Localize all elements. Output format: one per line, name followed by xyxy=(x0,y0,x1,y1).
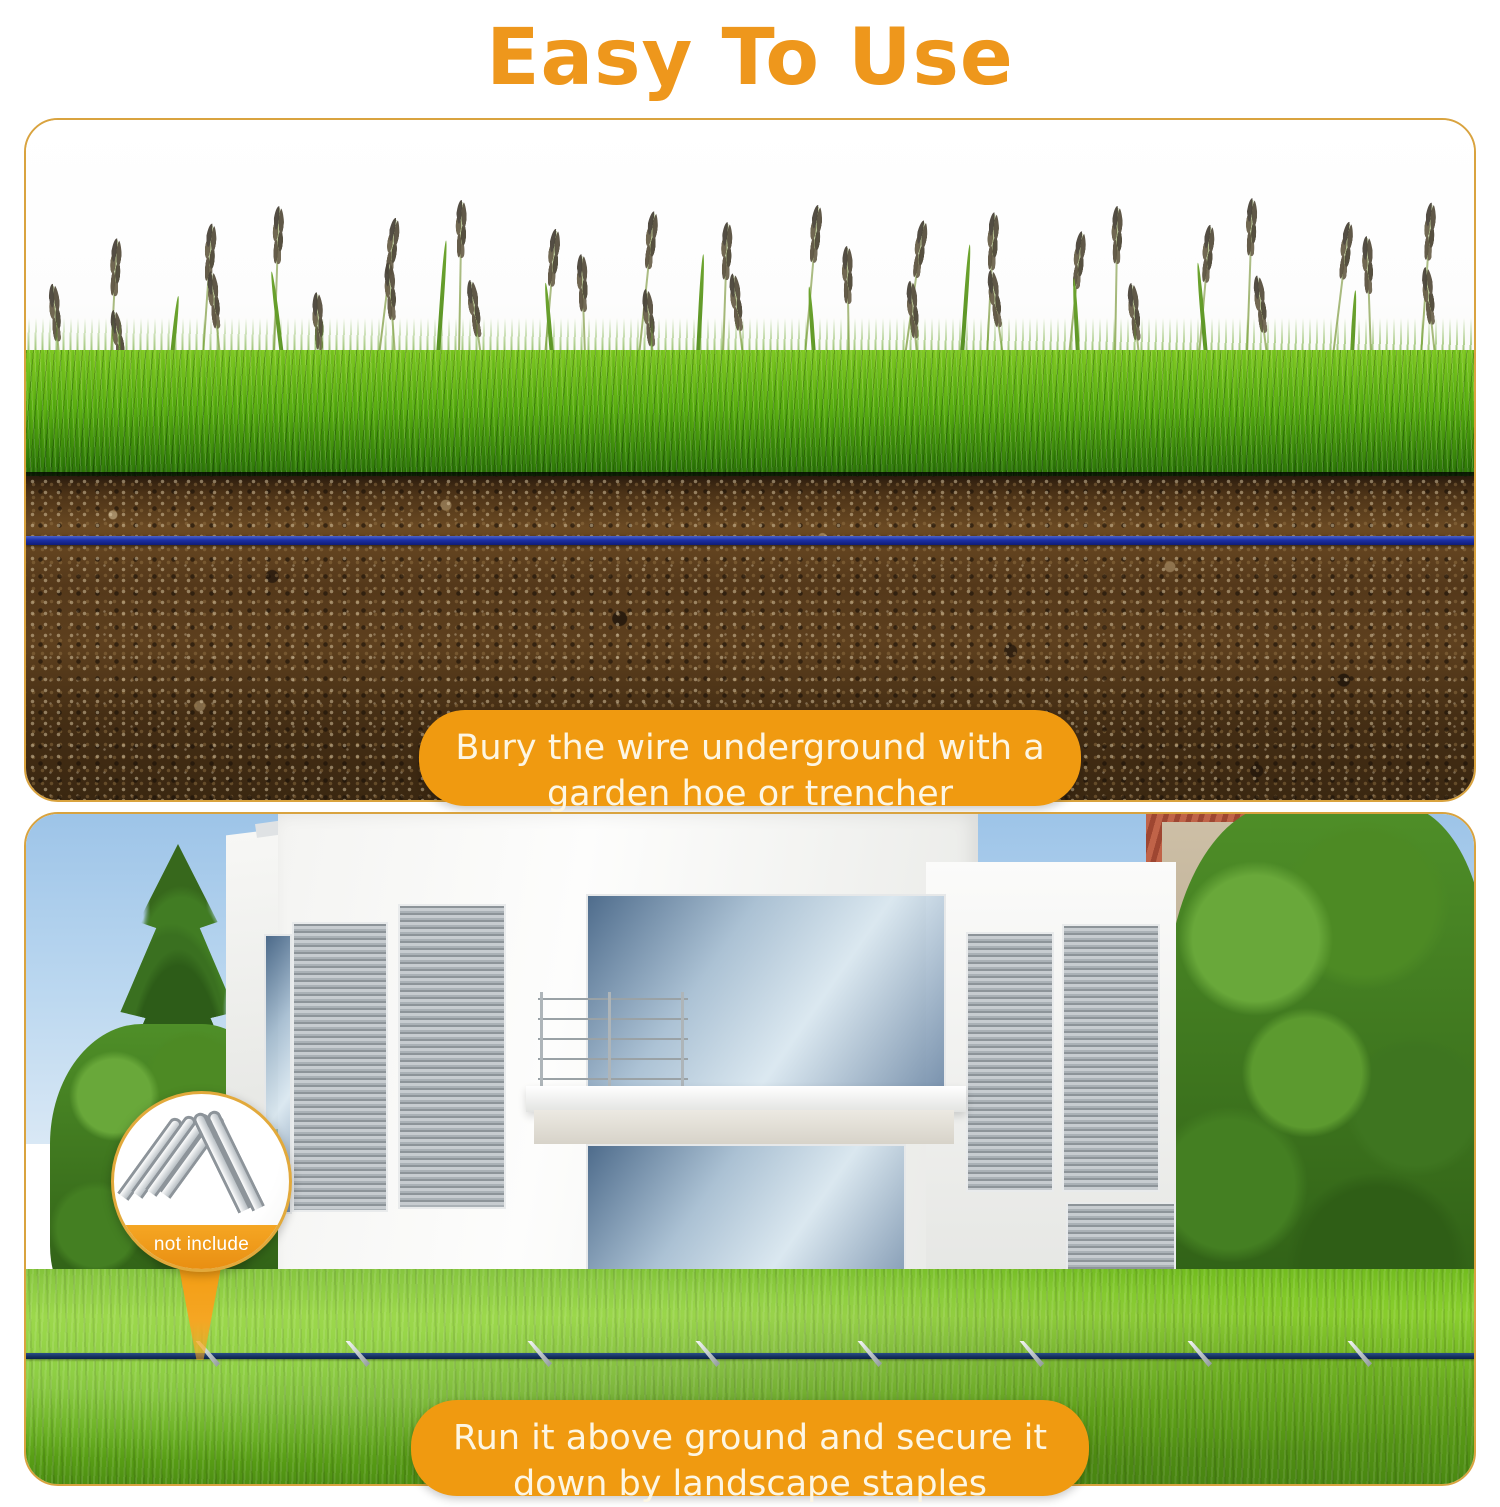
balcony-railing xyxy=(538,992,688,1088)
page-title: Easy To Use xyxy=(0,8,1500,108)
above-ground-wire-line xyxy=(26,1353,1474,1359)
buried-wire-line xyxy=(26,536,1474,545)
balcony-soffit xyxy=(534,1110,954,1144)
balcony-slab xyxy=(526,1086,966,1112)
panel-bury-underground xyxy=(24,118,1476,802)
window-blinds-b xyxy=(398,904,506,1209)
window-blinds-a xyxy=(292,922,388,1212)
landscape-staples-callout: not include xyxy=(111,1091,292,1272)
landscape-staples-icon xyxy=(128,1106,276,1226)
caption-bury-underground: Bury the wire underground with a garden … xyxy=(419,710,1081,806)
caption-run-above-ground: Run it above ground and secure it down b… xyxy=(411,1400,1089,1496)
aboveground-scene-image: not include xyxy=(26,814,1474,1484)
underground-scene-image xyxy=(26,120,1474,800)
grass-layer xyxy=(26,350,1474,482)
panel-run-above-ground: not include xyxy=(24,812,1476,1486)
callout-label: not include xyxy=(114,1225,289,1269)
window-blinds-d xyxy=(1062,924,1160,1192)
window-blinds-c xyxy=(966,932,1054,1192)
